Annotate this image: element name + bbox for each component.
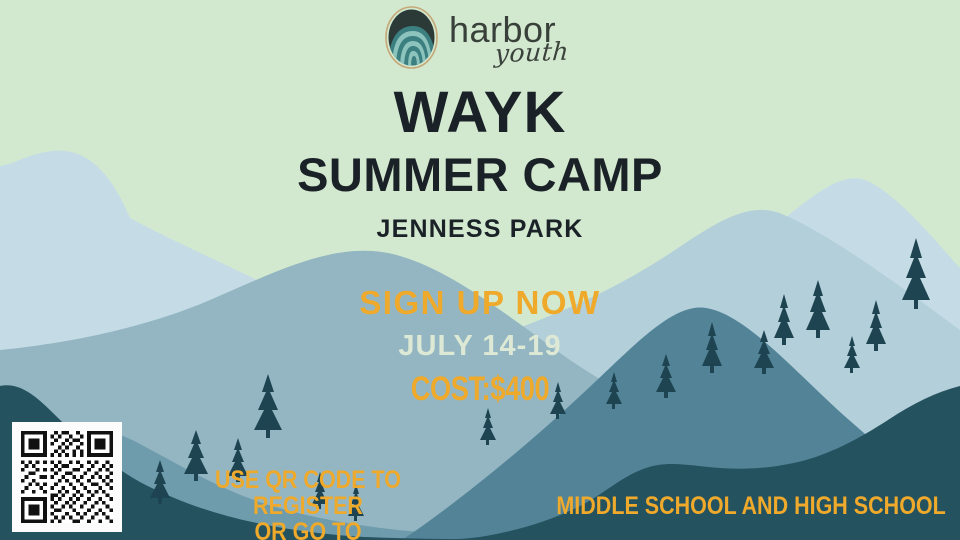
event-dates: JULY 14-19	[0, 328, 960, 364]
registration-instructions: USE QR CODE TO REGISTER OR GO TO HARBORF…	[143, 467, 473, 540]
audience-label: MIDDLE SCHOOL AND HIGH SCHOOL	[557, 492, 946, 520]
location-label: JENNESS PARK	[0, 213, 960, 245]
brand-logo: harbor youth	[383, 4, 595, 70]
qr-code[interactable]	[12, 422, 122, 532]
brand-sub-name: youth	[494, 37, 570, 69]
flyer-canvas: harbor youth WAYK SUMMER CAMP JENNESS PA…	[0, 0, 960, 540]
page-title: WAYK	[0, 82, 960, 144]
headline-block: WAYK SUMMER CAMP JENNESS PARK	[0, 82, 960, 245]
qr-code-icon[interactable]	[21, 431, 113, 523]
page-subtitle: SUMMER CAMP	[0, 147, 960, 203]
event-cost: COST:$400	[96, 370, 864, 408]
signup-label: SIGN UP NOW	[0, 284, 960, 322]
registration-instructions-line2: OR GO TO HARBORFOLSOM.COM	[166, 519, 450, 540]
harbor-oval-wave-logo-icon	[383, 6, 440, 69]
call-to-action-block: SIGN UP NOW JULY 14-19 COST:$400	[0, 284, 960, 408]
registration-instructions-line1: USE QR CODE TO REGISTER	[166, 467, 450, 519]
